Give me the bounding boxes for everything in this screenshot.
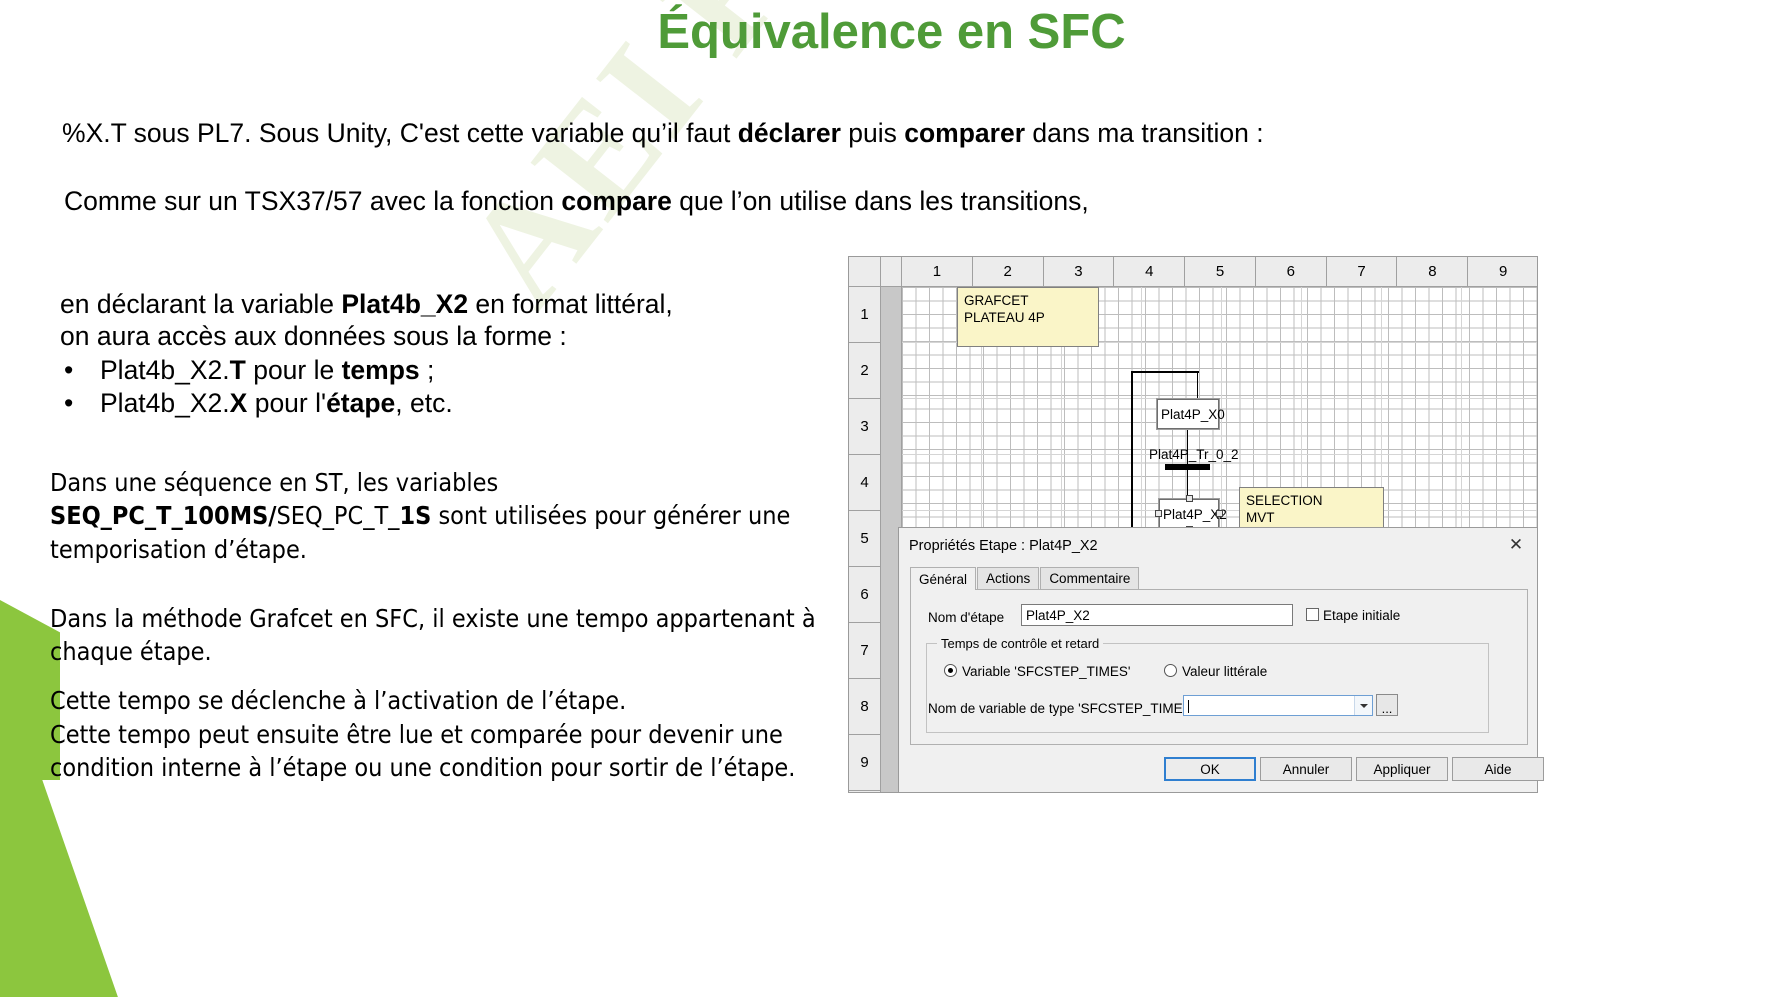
paragraph-4-bold-1s: 1S [399, 501, 431, 530]
sfc-row-header-8[interactable]: 8 [849, 679, 880, 735]
radio-literal-label: Valeur littérale [1182, 664, 1267, 679]
paragraph-2-seg1: Comme sur un TSX37/57 avec la fonction [64, 186, 561, 216]
sfc-transition-bar[interactable] [1165, 464, 1210, 470]
tab-actions[interactable]: Actions [977, 567, 1039, 589]
list-item: • Plat4b_X2.X pour l'étape, etc. [58, 388, 858, 420]
bullet-1-bold-T: T [230, 355, 246, 385]
sfc-row-header-5[interactable]: 5 [849, 511, 880, 567]
step-properties-dialog: Propriétés Etape : Plat4P_X2 ✕ Général A… [898, 527, 1538, 793]
sfc-row-header-6[interactable]: 6 [849, 567, 880, 623]
bottom-white-strip [0, 997, 1783, 1003]
sfc-row-header-9[interactable]: 9 [849, 735, 880, 791]
step-name-input[interactable]: Plat4P_X2 [1021, 604, 1293, 626]
bullet-list: • Plat4b_X2.T pour le temps ; • Plat4b_X… [58, 355, 858, 421]
browse-variable-button[interactable]: ... [1376, 694, 1398, 716]
paragraph-1-bold-declarer: déclarer [738, 118, 841, 148]
chevron-down-icon[interactable] [1354, 696, 1372, 715]
bullet-1-bold-temps: temps [342, 355, 420, 385]
sfc-column-header-5[interactable]: 5 [1185, 257, 1256, 286]
bullet-2-seg2: pour l' [247, 388, 326, 418]
paragraph-4-seg1: Dans une séquence en ST, les variables [50, 468, 498, 497]
variable-name-combobox[interactable] [1183, 695, 1373, 716]
paragraph-2-bold-compare: compare [561, 186, 671, 216]
list-item-text: Plat4b_X2.X pour l'étape, etc. [100, 388, 453, 420]
dialog-title: Propriétés Etape : Plat4P_X2 [909, 538, 1098, 554]
bullet-2-bold-X: X [230, 388, 248, 418]
sfc-column-header-2[interactable]: 2 [973, 257, 1044, 286]
text-caret [1188, 700, 1189, 713]
paragraph-4-bold-100ms: SEQ_PC_T_100MS/ [50, 501, 277, 530]
paragraph-4-seg2: SEQ_PC_T_ [277, 501, 400, 530]
tab-general[interactable]: Général [910, 567, 976, 590]
paragraph-4: Dans une séquence en ST, les variables S… [50, 466, 850, 566]
step-name-label: Nom d'étape [928, 610, 1004, 625]
paragraph-1-bold-comparer: comparer [904, 118, 1025, 148]
paragraph-1-seg2: puis [841, 118, 904, 148]
bullet-marker: • [58, 355, 100, 387]
sfc-column-header-8[interactable]: 8 [1397, 257, 1468, 286]
paragraph-5: Dans la méthode Grafcet en SFC, il exist… [50, 602, 850, 669]
close-icon[interactable]: ✕ [1503, 534, 1529, 556]
bullet-2-bold-etape: étape [326, 388, 395, 418]
paragraph-3-line1: en déclarant la variable Plat4b_X2 en fo… [60, 289, 860, 321]
sfc-step-plat4p-x0[interactable]: Plat4P_X0 [1157, 399, 1219, 429]
sfc-step-anchor-right[interactable] [1216, 510, 1223, 517]
paragraph-3-seg1: en déclarant la variable [60, 289, 341, 319]
bullet-1-seg1: Plat4b_X2. [100, 355, 230, 385]
sfc-column-header-6[interactable]: 6 [1256, 257, 1327, 286]
paragraph-2: Comme sur un TSX37/57 avec la fonction c… [64, 186, 1089, 218]
sfc-column-header-1[interactable]: 1 [902, 257, 973, 286]
paragraph-3-seg2: en format littéral, [468, 289, 673, 319]
timing-group-title: Temps de contrôle et retard [937, 636, 1103, 651]
radio-variable-label: Variable 'SFCSTEP_TIMES' [962, 664, 1130, 679]
initial-step-checkbox[interactable] [1306, 608, 1319, 621]
paragraph-2-seg2: que l’on utilise dans les transitions, [672, 186, 1089, 216]
list-item: • Plat4b_X2.T pour le temps ; [58, 355, 858, 387]
paragraph-1: %X.T sous PL7. Sous Unity, C'est cette v… [62, 118, 1264, 150]
paragraph-3-bold-var: Plat4b_X2 [341, 289, 468, 319]
help-button[interactable]: Aide [1452, 757, 1544, 781]
sfc-column-header-7[interactable]: 7 [1327, 257, 1398, 286]
dialog-tabstrip: Général Actions Commentaire [910, 568, 1528, 590]
sfc-wire-to-step-x0 [1197, 371, 1198, 399]
sfc-column-header-3[interactable]: 3 [1044, 257, 1115, 286]
variable-name-label: Nom de variable de type 'SFCSTEP_TIMES' [928, 701, 1194, 716]
sfc-step-anchor-left[interactable] [1155, 510, 1162, 517]
sfc-column-header-9[interactable]: 9 [1468, 257, 1538, 286]
paragraph-1-seg1: %X.T sous PL7. Sous Unity, C'est cette v… [62, 118, 738, 148]
timing-group [926, 643, 1489, 733]
radio-valeur-litterale[interactable] [1164, 664, 1177, 677]
initial-step-label: Etape initiale [1323, 608, 1400, 623]
sfc-transition-label[interactable]: Plat4P_Tr_0_2 [1149, 447, 1239, 462]
apply-button[interactable]: Appliquer [1356, 757, 1448, 781]
dialog-body: Nom d'étape Plat4P_X2 Etape initiale Tem… [910, 590, 1528, 745]
tab-commentaire[interactable]: Commentaire [1040, 567, 1139, 589]
sfc-row-header-4[interactable]: 4 [849, 455, 880, 511]
paragraph-7: Cette tempo peut ensuite être lue et com… [50, 718, 850, 785]
cancel-button[interactable]: Annuler [1260, 757, 1352, 781]
bullet-marker: • [58, 388, 100, 420]
bullet-2-seg3: , etc. [395, 388, 452, 418]
sfc-column-header-4[interactable]: 4 [1114, 257, 1185, 286]
sfc-gutter-header [881, 257, 902, 286]
sfc-row-header-7[interactable]: 7 [849, 623, 880, 679]
paragraph-6: Cette tempo se déclenche à l’activation … [50, 684, 850, 717]
sfc-comment-grafcet[interactable]: GRAFCET PLATEAU 4P [957, 287, 1099, 347]
bullet-2-seg1: Plat4b_X2. [100, 388, 230, 418]
bullet-1-seg3: ; [420, 355, 435, 385]
list-item-text: Plat4b_X2.T pour le temps ; [100, 355, 434, 387]
sfc-column-header-row: 1 2 3 4 5 6 7 8 9 [849, 257, 1538, 287]
sfc-step-plat4p-x2[interactable]: Plat4P_X2 [1159, 499, 1219, 529]
paragraph-1-seg3: dans ma transition : [1025, 118, 1264, 148]
radio-variable-sfcstep-times[interactable] [944, 664, 957, 677]
bullet-1-seg2: pour le [246, 355, 342, 385]
ok-button[interactable]: OK [1164, 757, 1256, 781]
paragraph-3: en déclarant la variable Plat4b_X2 en fo… [60, 289, 860, 353]
sfc-corner-cell [849, 257, 881, 286]
sfc-wire-top-connector [1131, 371, 1199, 373]
page-title: Équivalence en SFC [0, 4, 1783, 60]
paragraph-3-line2: on aura accès aux données sous la forme … [60, 321, 860, 353]
sfc-step-anchor-top[interactable] [1186, 495, 1193, 502]
